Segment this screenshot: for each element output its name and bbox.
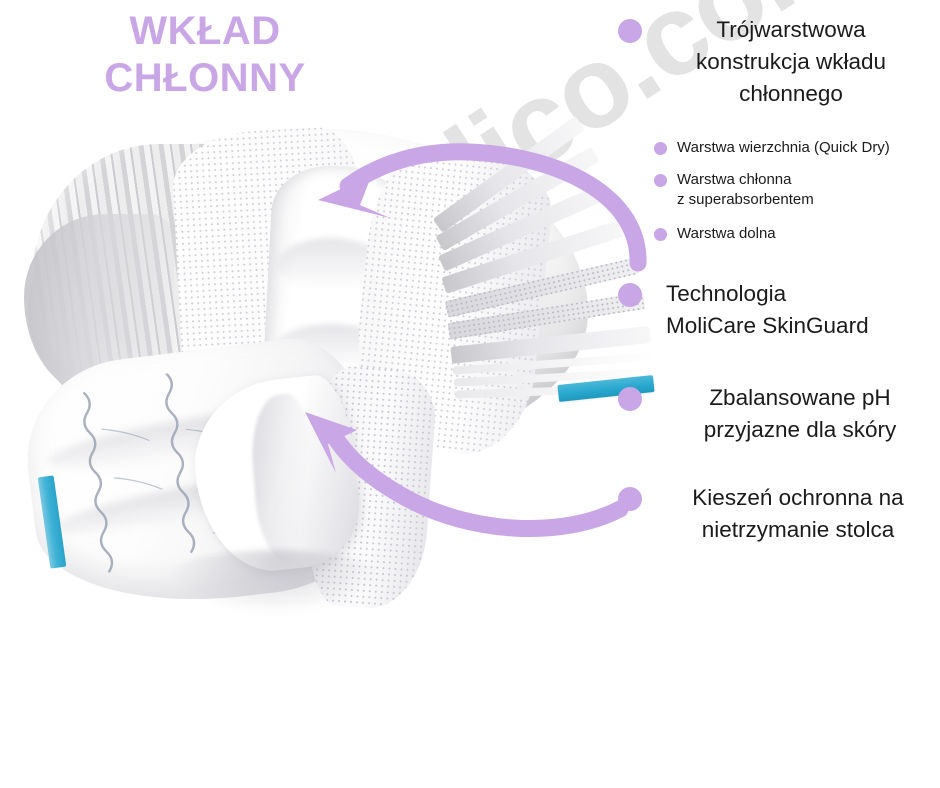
bullet-dot-icon — [618, 387, 642, 411]
bullet-dot-icon — [618, 19, 642, 43]
feature-item-stool-pocket[interactable]: Kieszeń ochronna na nietrzymanie stolca — [618, 482, 938, 546]
feature-item-balanced-ph[interactable]: Zbalansowane pH przyjazne dla skóry — [618, 382, 938, 446]
infographic-canvas: WKŁAD CHŁONNY Ortomedico.com — [0, 0, 940, 788]
sub-feature-label: Warstwa dolna — [677, 224, 776, 244]
feature-label: Technologia MoliCare SkinGuard — [666, 278, 869, 342]
bullet-dot-icon — [618, 283, 642, 307]
bullet-dot-icon — [618, 487, 642, 511]
feature-list: Trójwarstwowa konstrukcja wkładu chłonne… — [612, 0, 940, 788]
bullet-dot-small-icon — [654, 142, 667, 155]
sub-feature-item-absorbent-layer[interactable]: Warstwa chłonna z superabsorbentem — [654, 170, 940, 210]
page-title: WKŁAD CHŁONNY — [40, 8, 370, 102]
feature-item-skinguard[interactable]: Technologia MoliCare SkinGuard — [618, 278, 938, 342]
product-drop-shadow — [160, 550, 390, 616]
sub-feature-label: Warstwa wierzchnia (Quick Dry) — [677, 138, 890, 158]
bullet-dot-small-icon — [654, 174, 667, 187]
feature-label: Kieszeń ochronna na nietrzymanie stolca — [664, 482, 932, 546]
sub-feature-label: Warstwa chłonna z superabsorbentem — [677, 170, 814, 210]
feature-label: Trójwarstwowa konstrukcja wkładu chłonne… — [662, 14, 920, 110]
sub-feature-item-top-layer[interactable]: Warstwa wierzchnia (Quick Dry) — [654, 138, 940, 158]
feature-label: Zbalansowane pH przyjazne dla skóry — [668, 382, 932, 446]
bullet-dot-small-icon — [654, 228, 667, 241]
absorbent-pad-product-image — [10, 118, 660, 618]
feature-item-three-layer[interactable]: Trójwarstwowa konstrukcja wkładu chłonne… — [618, 14, 938, 110]
sub-feature-item-bottom-layer[interactable]: Warstwa dolna — [654, 224, 940, 244]
